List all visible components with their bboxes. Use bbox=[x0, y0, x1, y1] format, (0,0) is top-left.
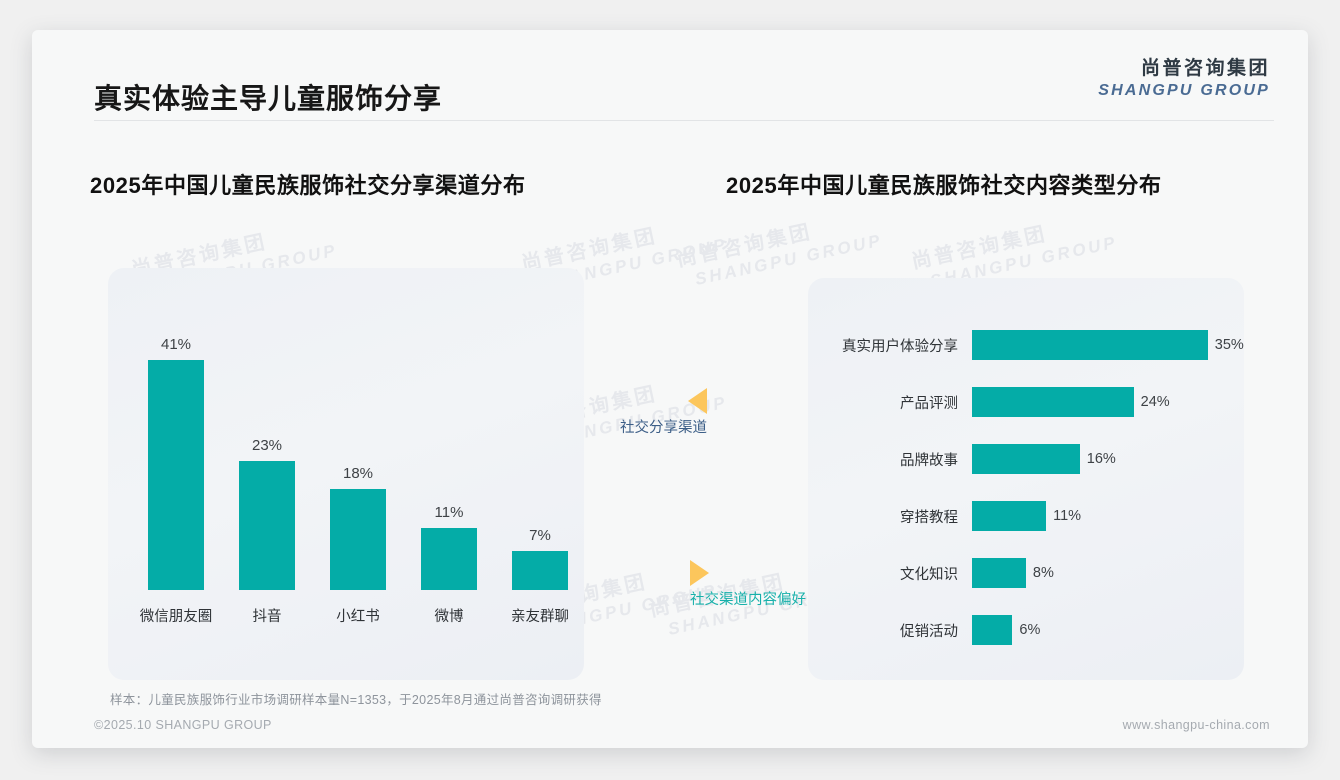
bar-row: 品牌故事16% bbox=[808, 444, 1244, 474]
chart-2-title: 2025年中国儿童民族服饰社交内容类型分布 bbox=[726, 168, 1162, 200]
bar-category-label: 产品评测 bbox=[808, 392, 972, 413]
bar-rect[interactable] bbox=[972, 501, 1046, 531]
bar-category-label: 穿搭教程 bbox=[808, 506, 972, 527]
bar-row: 穿搭教程11% bbox=[808, 501, 1244, 531]
bar-value-label: 41% bbox=[161, 336, 191, 353]
footer-copyright: ©2025.10 SHANGPU GROUP bbox=[94, 718, 272, 732]
brand-name-en: SHANGPU GROUP bbox=[1098, 81, 1270, 101]
bar-rect[interactable] bbox=[330, 489, 386, 590]
chart-1-vertical-bar-chart: 41%微信朋友圈23%抖音18%小红书11%微博7%亲友群聊 bbox=[108, 278, 584, 678]
bar-value-label: 18% bbox=[343, 465, 373, 482]
bar-rect[interactable] bbox=[239, 461, 295, 590]
bar-value-label: 6% bbox=[1012, 622, 1040, 638]
brand-logo: 尚普咨询集团 SHANGPU GROUP bbox=[1098, 58, 1270, 101]
annotation-social-share-channel: 社交分享渠道 bbox=[620, 388, 707, 437]
bar-column: 41% bbox=[148, 336, 204, 590]
bar-column: 23% bbox=[239, 437, 295, 590]
bar-value-label: 23% bbox=[252, 437, 282, 454]
bar-column: 7% bbox=[512, 527, 568, 590]
bar-value-label: 11% bbox=[435, 504, 464, 521]
triangle-right-icon bbox=[690, 560, 709, 586]
bar-column: 18% bbox=[330, 465, 386, 590]
bar-row: 产品评测24% bbox=[808, 387, 1244, 417]
header-divider bbox=[94, 120, 1274, 121]
triangle-left-icon bbox=[688, 388, 707, 414]
bar-category-label: 品牌故事 bbox=[808, 449, 972, 470]
bar-value-label: 11% bbox=[1046, 508, 1081, 524]
bar-category-label: 真实用户体验分享 bbox=[808, 335, 972, 356]
bar-row: 促销活动6% bbox=[808, 615, 1244, 645]
bar-rect[interactable] bbox=[512, 551, 568, 590]
slide-footer: ©2025.10 SHANGPU GROUP www.shangpu-china… bbox=[32, 718, 1308, 748]
slide-card: 真实体验主导儿童服饰分享 尚普咨询集团 SHANGPU GROUP 2025年中… bbox=[32, 30, 1308, 748]
bar-value-label: 8% bbox=[1026, 565, 1054, 581]
bar-value-label: 35% bbox=[1208, 337, 1244, 353]
watermark-cn: 尚普咨询集团 bbox=[675, 207, 881, 273]
bar-category-label: 文化知识 bbox=[808, 563, 972, 584]
bar-category-label: 亲友群聊 bbox=[485, 605, 595, 626]
bar-rect[interactable] bbox=[972, 558, 1026, 588]
bar-category-label: 促销活动 bbox=[808, 620, 972, 641]
annotation-content-preference: 社交渠道内容偏好 bbox=[690, 560, 806, 609]
bar-row: 文化知识8% bbox=[808, 558, 1244, 588]
bar-row: 真实用户体验分享35% bbox=[808, 330, 1244, 360]
brand-name-cn: 尚普咨询集团 bbox=[1098, 58, 1270, 81]
bar-rect[interactable] bbox=[972, 387, 1134, 417]
slide-header: 真实体验主导儿童服饰分享 尚普咨询集团 SHANGPU GROUP bbox=[32, 30, 1308, 120]
chart-2-horizontal-bar-chart: 真实用户体验分享35%产品评测24%品牌故事16%穿搭教程11%文化知识8%促销… bbox=[808, 288, 1244, 670]
bar-value-label: 7% bbox=[529, 527, 551, 544]
bar-value-label: 24% bbox=[1134, 394, 1170, 410]
bar-rect[interactable] bbox=[421, 528, 477, 590]
bar-rect[interactable] bbox=[148, 360, 204, 590]
annotation-label: 社交渠道内容偏好 bbox=[690, 588, 806, 609]
bar-rect[interactable] bbox=[972, 444, 1080, 474]
source-note: 样本：儿童民族服饰行业市场调研样本量N=1353，于2025年8月通过尚普咨询调… bbox=[110, 689, 602, 708]
page-title: 真实体验主导儿童服饰分享 bbox=[94, 77, 442, 117]
bar-column: 11% bbox=[421, 504, 477, 590]
chart-1-title: 2025年中国儿童民族服饰社交分享渠道分布 bbox=[90, 168, 526, 200]
bar-value-label: 16% bbox=[1080, 451, 1116, 467]
bar-rect[interactable] bbox=[972, 330, 1208, 360]
footer-website[interactable]: www.shangpu-china.com bbox=[1123, 718, 1270, 732]
watermark-cn: 尚普咨询集团 bbox=[910, 209, 1116, 275]
bar-rect[interactable] bbox=[972, 615, 1012, 645]
annotation-label: 社交分享渠道 bbox=[620, 416, 707, 437]
